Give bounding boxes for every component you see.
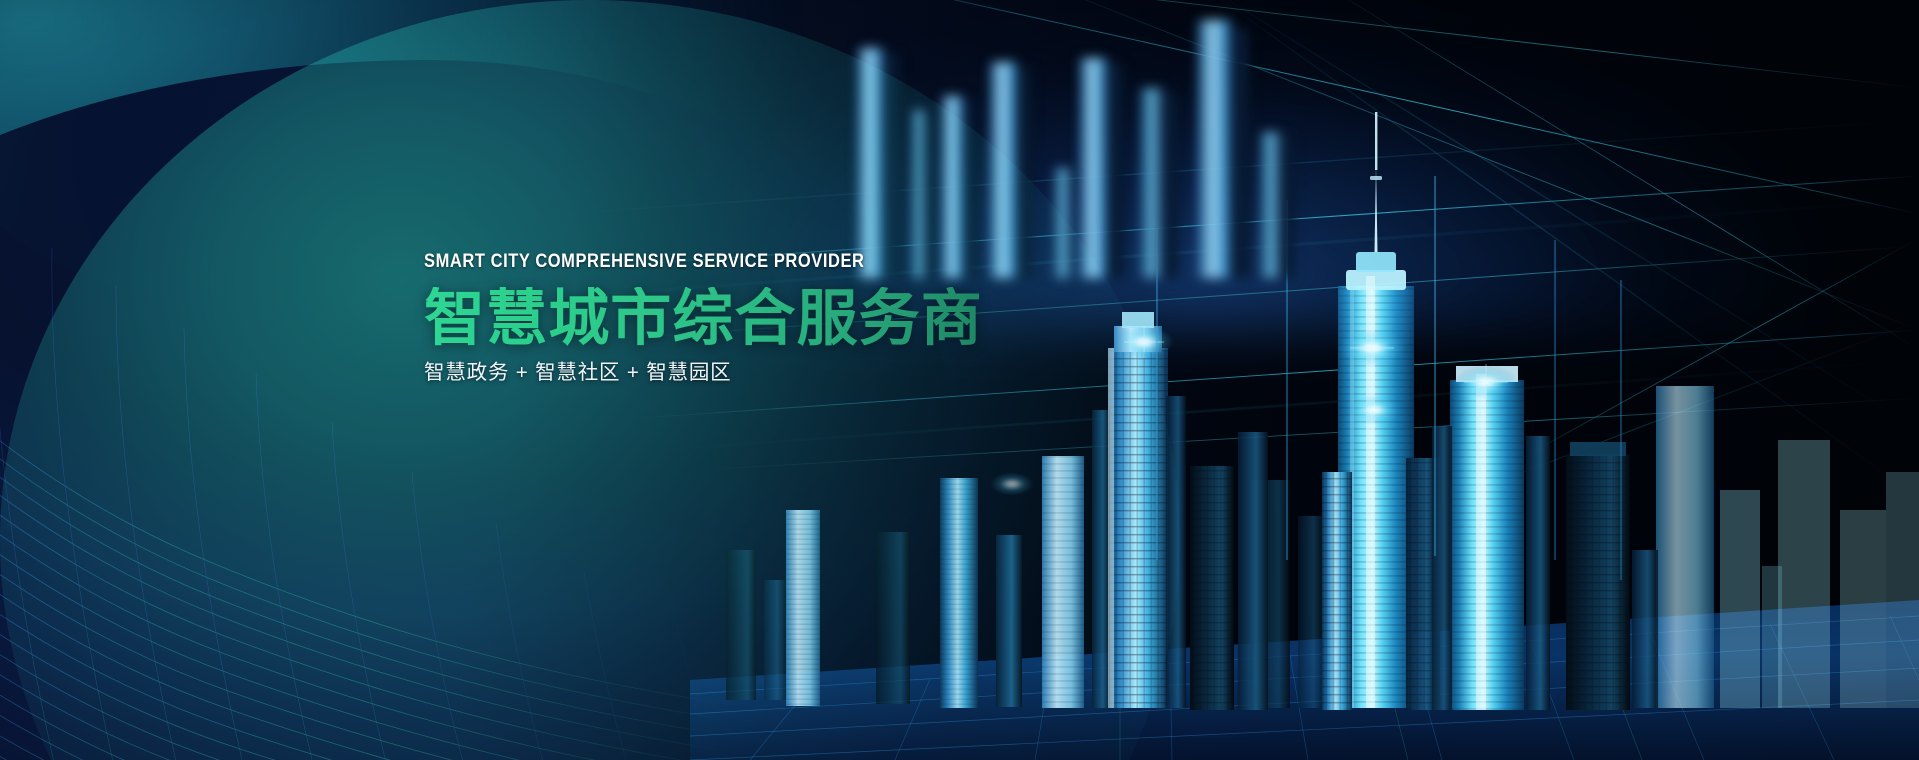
hero-banner: SMART CITY COMPREHENSIVE SERVICE PROVIDE… — [0, 0, 1919, 760]
hero-copy-block: SMART CITY COMPREHENSIVE SERVICE PROVIDE… — [424, 252, 1064, 383]
subtitle-services: 智慧政务 + 智慧社区 + 智慧园区 — [424, 363, 1064, 384]
eyebrow-tagline: SMART CITY COMPREHENSIVE SERVICE PROVIDE… — [424, 252, 965, 272]
page-title: 智慧城市综合服务商 — [424, 287, 1064, 350]
